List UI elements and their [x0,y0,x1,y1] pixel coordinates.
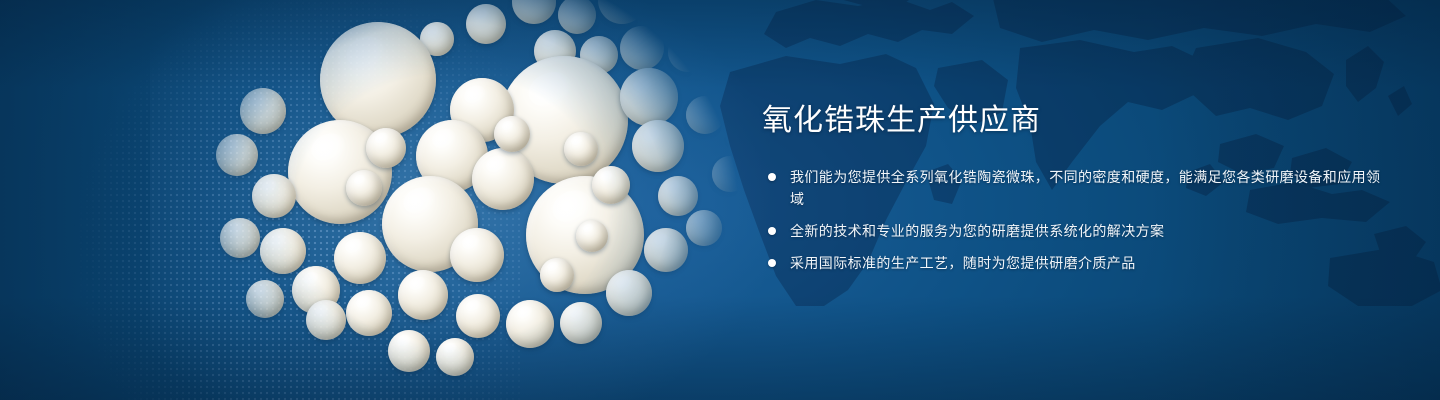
list-item: 采用国际标准的生产工艺，随时为您提供研磨介质产品 [762,252,1382,274]
page-title: 氧化锆珠生产供应商 [762,104,1382,138]
list-item: 我们能为您提供全系列氧化锆陶瓷微珠，不同的密度和硬度，能满足您各类研磨设备和应用… [762,166,1382,210]
list-item-label: 采用国际标准的生产工艺，随时为您提供研磨介质产品 [790,255,1136,271]
bullet-dot-icon [768,227,776,235]
list-item-label: 我们能为您提供全系列氧化锆陶瓷微珠，不同的密度和硬度，能满足您各类研磨设备和应用… [790,169,1380,207]
zirconia-beads-photo [120,0,840,400]
bullet-dot-icon [768,173,776,181]
hero-banner: 氧化锆珠生产供应商 我们能为您提供全系列氧化锆陶瓷微珠，不同的密度和硬度，能满足… [0,0,1440,400]
bullet-dot-icon [768,259,776,267]
list-item-label: 全新的技术和专业的服务为您的研磨提供系统化的解决方案 [790,223,1164,239]
list-item: 全新的技术和专业的服务为您的研磨提供系统化的解决方案 [762,220,1382,242]
banner-copy: 氧化锆珠生产供应商 我们能为您提供全系列氧化锆陶瓷微珠，不同的密度和硬度，能满足… [762,104,1382,274]
feature-list: 我们能为您提供全系列氧化锆陶瓷微珠，不同的密度和硬度，能满足您各类研磨设备和应用… [762,166,1382,274]
